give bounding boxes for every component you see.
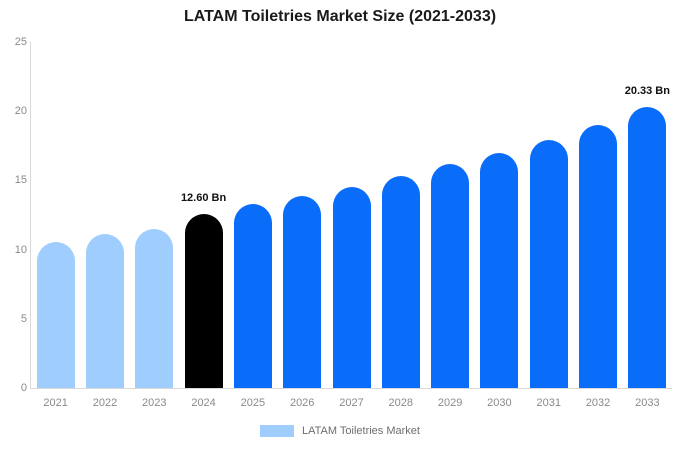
x-axis-tick-2029: 2029 (438, 397, 462, 409)
bar-2033[interactable] (628, 107, 666, 388)
bar-2031[interactable] (530, 140, 568, 388)
x-axis-tick-2021: 2021 (43, 397, 67, 409)
chart-legend: LATAM Toiletries Market (0, 425, 680, 437)
x-axis-tick-2031: 2031 (536, 397, 560, 409)
bar-2025[interactable] (234, 204, 272, 388)
bar-2024[interactable] (185, 214, 223, 388)
x-axis-tick-2023: 2023 (142, 397, 166, 409)
bar-2023[interactable] (135, 229, 173, 388)
legend-swatch-latam-toiletries-market (260, 425, 294, 437)
bar-value-label-2024: 12.60 Bn (181, 192, 226, 204)
bar-value-label-2033: 20.33 Bn (625, 85, 670, 97)
legend-label-latam-toiletries-market: LATAM Toiletries Market (302, 425, 420, 437)
x-axis-tick-2022: 2022 (93, 397, 117, 409)
x-axis-tick-2027: 2027 (339, 397, 363, 409)
bar-2021[interactable] (37, 242, 75, 388)
x-axis-tick-2033: 2033 (635, 397, 659, 409)
x-axis-tick-2030: 2030 (487, 397, 511, 409)
x-axis-tick-2028: 2028 (389, 397, 413, 409)
x-axis-tick-2025: 2025 (241, 397, 265, 409)
x-axis-tick-2024: 2024 (191, 397, 215, 409)
bar-2022[interactable] (86, 234, 124, 388)
bar-2029[interactable] (431, 164, 469, 388)
bars-layer: 202120222023202412.60 Bn2025202620272028… (0, 0, 680, 450)
x-axis-tick-2032: 2032 (586, 397, 610, 409)
bar-2032[interactable] (579, 125, 617, 388)
bar-2028[interactable] (382, 176, 420, 388)
x-axis-tick-2026: 2026 (290, 397, 314, 409)
bar-2026[interactable] (283, 196, 321, 388)
bar-2027[interactable] (333, 187, 371, 388)
bar-2030[interactable] (480, 153, 518, 388)
chart-container: LATAM Toiletries Market Size (2021-2033)… (0, 0, 680, 450)
